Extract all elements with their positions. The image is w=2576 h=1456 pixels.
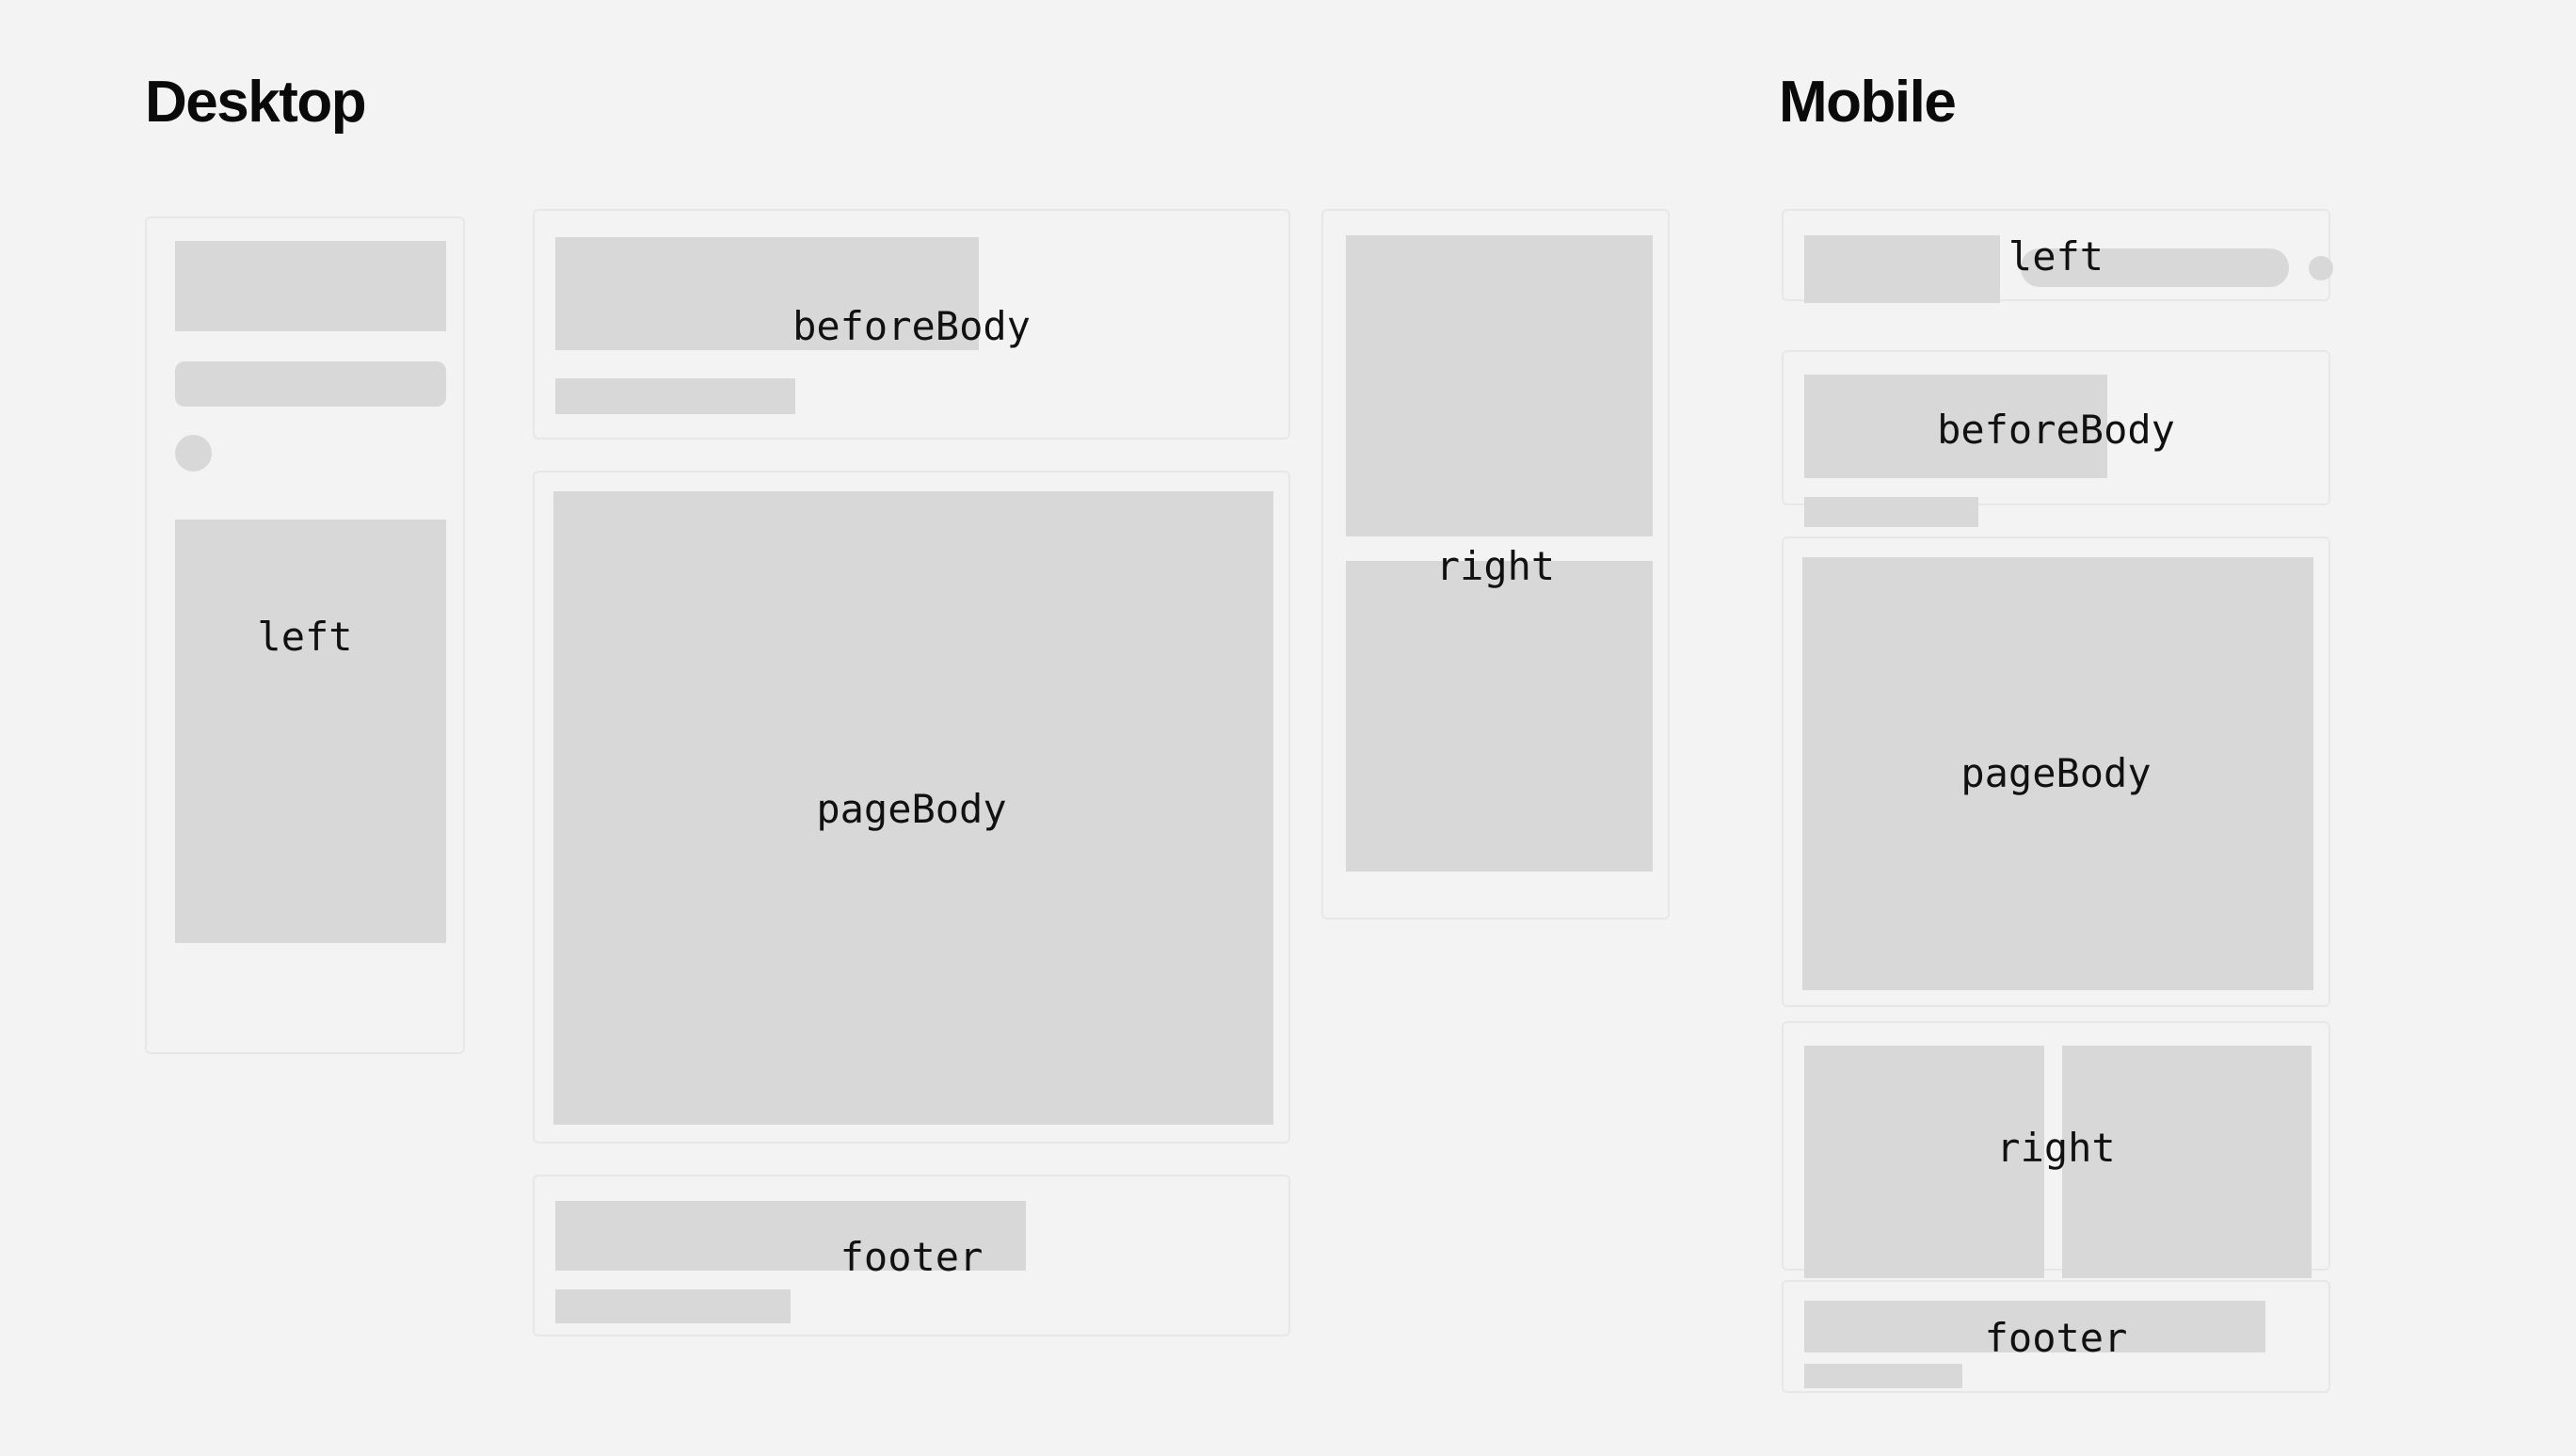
desktop-region-beforebody[interactable]: beforeBody (533, 209, 1290, 440)
wireframe-canvas: Desktop left beforeBody pageBody footer … (0, 0, 2576, 1456)
skeleton-block-small (1804, 1364, 1962, 1388)
mobile-region-beforebody[interactable]: beforeBody (1782, 350, 2330, 505)
skeleton-block (1804, 235, 2000, 303)
skeleton-block (1804, 375, 2107, 478)
skeleton-circle (175, 435, 212, 472)
skeleton-block-small (1804, 497, 1978, 527)
skeleton-block (555, 237, 979, 350)
desktop-region-pagebody[interactable]: pageBody (533, 471, 1290, 1144)
skeleton-circle (2309, 256, 2333, 280)
mobile-region-right[interactable]: right (1782, 1021, 2330, 1271)
skeleton-block (2062, 1046, 2312, 1278)
skeleton-block (1804, 1301, 2265, 1352)
skeleton-block (555, 1201, 1026, 1271)
desktop-region-right[interactable]: right (1321, 209, 1670, 920)
skeleton-block (1346, 561, 1653, 872)
skeleton-block (1804, 1046, 2044, 1278)
skeleton-block-tall (175, 520, 446, 943)
mobile-section-title: Mobile (1779, 73, 1955, 132)
desktop-region-footer[interactable]: footer (533, 1175, 1290, 1336)
skeleton-block-small (555, 378, 795, 414)
mobile-region-footer[interactable]: footer (1782, 1280, 2330, 1393)
skeleton-block (1346, 235, 1653, 536)
skeleton-block-pill (2021, 248, 2289, 287)
skeleton-block-large (553, 491, 1273, 1125)
desktop-region-left[interactable]: left (145, 216, 465, 1054)
mobile-region-pagebody[interactable]: pageBody (1782, 536, 2330, 1007)
skeleton-block (175, 241, 446, 331)
mobile-region-left[interactable]: left (1782, 209, 2330, 301)
skeleton-block-large (1802, 557, 2313, 990)
desktop-section-title: Desktop (145, 73, 365, 132)
skeleton-block-rounded (175, 361, 446, 407)
skeleton-block-small (555, 1289, 791, 1323)
